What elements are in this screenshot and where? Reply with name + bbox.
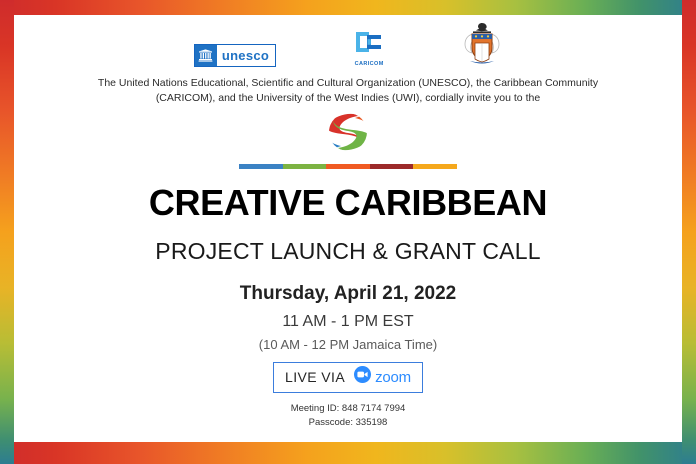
event-time-alt: (10 AM - 12 PM Jamaica Time) — [14, 338, 682, 351]
poster-border-left — [0, 0, 14, 464]
poster-border-bottom — [0, 442, 696, 464]
invitation-line-2: (CARICOM), and the University of the Wes… — [38, 91, 658, 106]
page-subtitle: PROJECT LAUNCH & GRANT CALL — [14, 240, 682, 263]
poster-border-right — [682, 0, 696, 464]
unesco-temple-icon — [195, 45, 217, 66]
uwi-logo — [462, 21, 502, 67]
page-title: CREATIVE CARIBBEAN — [14, 185, 682, 221]
poster-border-top — [0, 0, 696, 15]
partner-logo-row: unesco CARICOM — [14, 15, 682, 67]
meeting-passcode: Passcode: 335198 — [14, 416, 682, 430]
meeting-details: Meeting ID: 848 7174 7994 Passcode: 3351… — [14, 402, 682, 430]
event-time: 11 AM - 1 PM EST — [14, 314, 682, 330]
creative-caribbean-emblem — [14, 112, 682, 157]
poster-content: unesco CARICOM — [14, 15, 682, 442]
creative-caribbean-swoosh-emblem-icon — [328, 112, 368, 157]
meeting-id: Meeting ID: 848 7174 7994 — [14, 402, 682, 416]
zoom-lockup: zoom — [354, 366, 411, 388]
invitation-text: The United Nations Educational, Scientif… — [14, 76, 682, 106]
caricom-wordmark: CARICOM — [355, 61, 384, 67]
event-date: Thursday, April 21, 2022 — [14, 284, 682, 303]
zoom-wordmark: zoom — [375, 370, 411, 385]
caricom-double-c-icon — [354, 29, 384, 60]
event-poster: unesco CARICOM — [0, 0, 696, 464]
live-via-zoom-badge[interactable]: LIVE VIA zoom — [273, 362, 423, 393]
invitation-line-1: The United Nations Educational, Scientif… — [38, 76, 658, 91]
caricom-logo: CARICOM — [354, 29, 384, 67]
unesco-wordmark: unesco — [217, 45, 275, 66]
live-via-label: LIVE VIA — [285, 370, 345, 384]
uwi-crest-icon — [462, 21, 502, 67]
unesco-logo: unesco — [194, 44, 276, 67]
color-divider — [239, 164, 457, 169]
zoom-camera-icon — [354, 366, 371, 388]
broadcast-badge-wrap: LIVE VIA zoom — [14, 362, 682, 393]
